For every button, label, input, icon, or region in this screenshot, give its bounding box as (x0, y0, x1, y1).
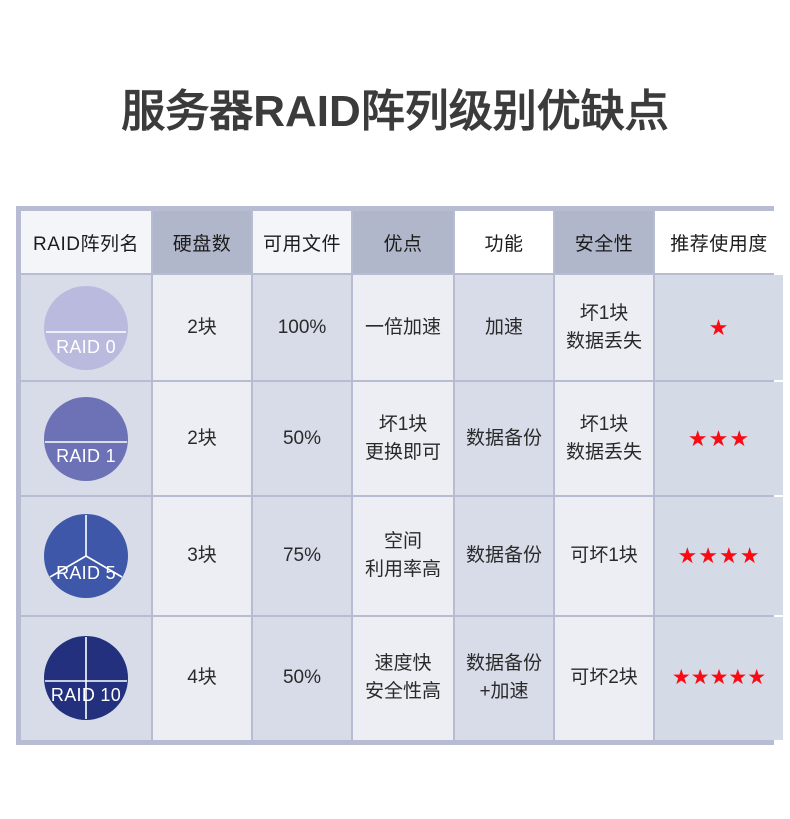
raid-level-label: RAID 0 (44, 338, 128, 356)
function-line: 数据备份 (455, 650, 553, 678)
pros-cell: 空间 利用率高 (353, 497, 453, 614)
column-header-rating: 推荐使用度 (655, 211, 783, 273)
raid-level-cell: RAID 1 (21, 382, 151, 495)
disk-count-cell: 2块 (153, 275, 251, 380)
raid-comparison-table: RAID阵列名 硬盘数 可用文件 优点 功能 安全性 推荐使用度 (19, 209, 785, 742)
function-cell: 数据备份 +加速 (455, 617, 553, 740)
pros-line: 安全性高 (353, 678, 453, 706)
disk-count-cell: 4块 (153, 617, 251, 740)
column-header-disk-count: 硬盘数 (153, 211, 251, 273)
raid-level-label: RAID 5 (44, 564, 128, 582)
rating-cell: ★★★★ (655, 497, 783, 614)
raid0-disk-icon: RAID 0 (44, 286, 128, 370)
pros-cell: 速度快 安全性高 (353, 617, 453, 740)
column-header-capacity: 可用文件 (253, 211, 351, 273)
disk-count-cell: 3块 (153, 497, 251, 614)
safety-line: 可坏2块 (555, 664, 653, 692)
pros-line: 利用率高 (353, 556, 453, 584)
table-row: RAID 1 2块 50% 坏1块 更换即可 数据备份 (21, 382, 783, 495)
page-title: 服务器RAID阵列级别优缺点 (0, 84, 790, 140)
column-header-raid-name: RAID阵列名 (21, 211, 151, 273)
capacity-cell: 100% (253, 275, 351, 380)
star-rating: ★★★ (655, 427, 783, 451)
star-rating: ★★★★ (655, 544, 783, 568)
function-line: 加速 (455, 314, 553, 342)
pros-line: 速度快 (353, 650, 453, 678)
column-header-function: 功能 (455, 211, 553, 273)
function-cell: 数据备份 (455, 497, 553, 614)
safety-cell: 坏1块 数据丢失 (555, 275, 653, 380)
disk-count-cell: 2块 (153, 382, 251, 495)
pros-cell: 一倍加速 (353, 275, 453, 380)
safety-cell: 可坏1块 (555, 497, 653, 614)
safety-line: 坏1块 (555, 300, 653, 328)
pros-line: 坏1块 (353, 411, 453, 439)
pros-line: 更换即可 (353, 439, 453, 467)
raid-level-label: RAID 10 (44, 686, 128, 704)
raid-level-cell: RAID 0 (21, 275, 151, 380)
star-rating: ★ (655, 316, 783, 340)
column-header-pros: 优点 (353, 211, 453, 273)
star-rating: ★★★★★ (655, 666, 783, 690)
safety-cell: 坏1块 数据丢失 (555, 382, 653, 495)
raid-table-container: RAID阵列名 硬盘数 可用文件 优点 功能 安全性 推荐使用度 (16, 206, 774, 745)
capacity-cell: 50% (253, 382, 351, 495)
capacity-cell: 75% (253, 497, 351, 614)
safety-line: 数据丢失 (555, 328, 653, 356)
table-body: RAID 0 2块 100% 一倍加速 加速 (21, 275, 783, 740)
raid-level-cell: RAID 10 (21, 617, 151, 740)
column-header-safety: 安全性 (555, 211, 653, 273)
raid5-disk-icon: RAID 5 (44, 514, 128, 598)
table-row: RAID 10 4块 50% 速度快 安全性高 数据备份 (21, 617, 783, 740)
function-cell: 数据备份 (455, 382, 553, 495)
pros-line: 一倍加速 (353, 314, 453, 342)
raid-level-label: RAID 1 (44, 447, 128, 465)
function-line: +加速 (455, 678, 553, 706)
raid-comparison-infographic: 服务器RAID阵列级别优缺点 RAID阵列名 硬盘数 可用文件 优点 功能 安全… (0, 0, 790, 819)
rating-cell: ★★★★★ (655, 617, 783, 740)
rating-cell: ★★★ (655, 382, 783, 495)
table-header-row: RAID阵列名 硬盘数 可用文件 优点 功能 安全性 推荐使用度 (21, 211, 783, 273)
safety-cell: 可坏2块 (555, 617, 653, 740)
safety-line: 数据丢失 (555, 439, 653, 467)
raid10-disk-icon: RAID 10 (44, 636, 128, 720)
safety-line: 可坏1块 (555, 542, 653, 570)
safety-line: 坏1块 (555, 411, 653, 439)
function-cell: 加速 (455, 275, 553, 380)
rating-cell: ★ (655, 275, 783, 380)
table-header: RAID阵列名 硬盘数 可用文件 优点 功能 安全性 推荐使用度 (21, 211, 783, 273)
capacity-cell: 50% (253, 617, 351, 740)
function-line: 数据备份 (455, 542, 553, 570)
pros-cell: 坏1块 更换即可 (353, 382, 453, 495)
function-line: 数据备份 (455, 425, 553, 453)
table-row: RAID 0 2块 100% 一倍加速 加速 (21, 275, 783, 380)
table-row: RAID 5 3块 75% 空间 利用率高 数据备份 (21, 497, 783, 614)
raid1-disk-icon: RAID 1 (44, 397, 128, 481)
raid-level-cell: RAID 5 (21, 497, 151, 614)
pros-line: 空间 (353, 528, 453, 556)
